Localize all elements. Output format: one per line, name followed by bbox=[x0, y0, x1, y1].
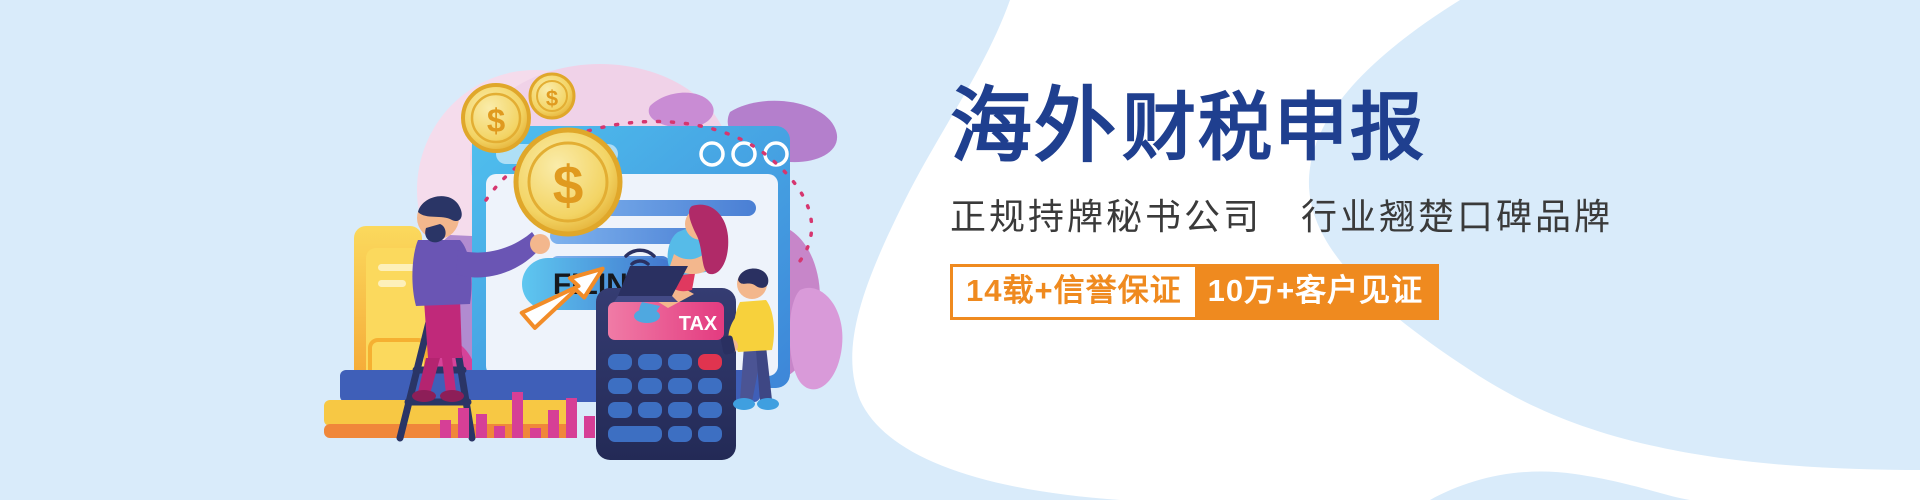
calculator: TAX bbox=[596, 288, 736, 460]
badge-clients: 10万+客户见证 bbox=[1195, 264, 1440, 320]
headline-part-b: 财税申报 bbox=[1122, 91, 1426, 168]
coin-medium-left: $ bbox=[463, 85, 529, 151]
coin-symbol: $ bbox=[546, 86, 558, 111]
promo-banner: FILING $ $ bbox=[0, 0, 1920, 500]
calculator-display-label: TAX bbox=[679, 313, 718, 335]
headline-part-a: 海外 bbox=[950, 86, 1118, 168]
copy-block: 海外 财税申报 正规持牌秘书公司 行业翘楚口碑品牌 14载+信誉保证 10万+客… bbox=[950, 72, 1750, 320]
badge-group: 14载+信誉保证 10万+客户见证 bbox=[950, 264, 1750, 320]
coin-large-center: $ bbox=[516, 130, 620, 234]
coin-symbol: $ bbox=[553, 154, 584, 216]
coin-small-top: $ bbox=[530, 74, 574, 118]
subheadline: 正规持牌秘书公司 行业翘楚口碑品牌 bbox=[950, 188, 1750, 240]
coin-symbol: $ bbox=[487, 102, 505, 139]
headline: 海外 财税申报 bbox=[950, 72, 1750, 168]
hero-illustration: FILING $ $ bbox=[300, 40, 860, 460]
badge-credibility: 14载+信誉保证 bbox=[950, 264, 1195, 320]
